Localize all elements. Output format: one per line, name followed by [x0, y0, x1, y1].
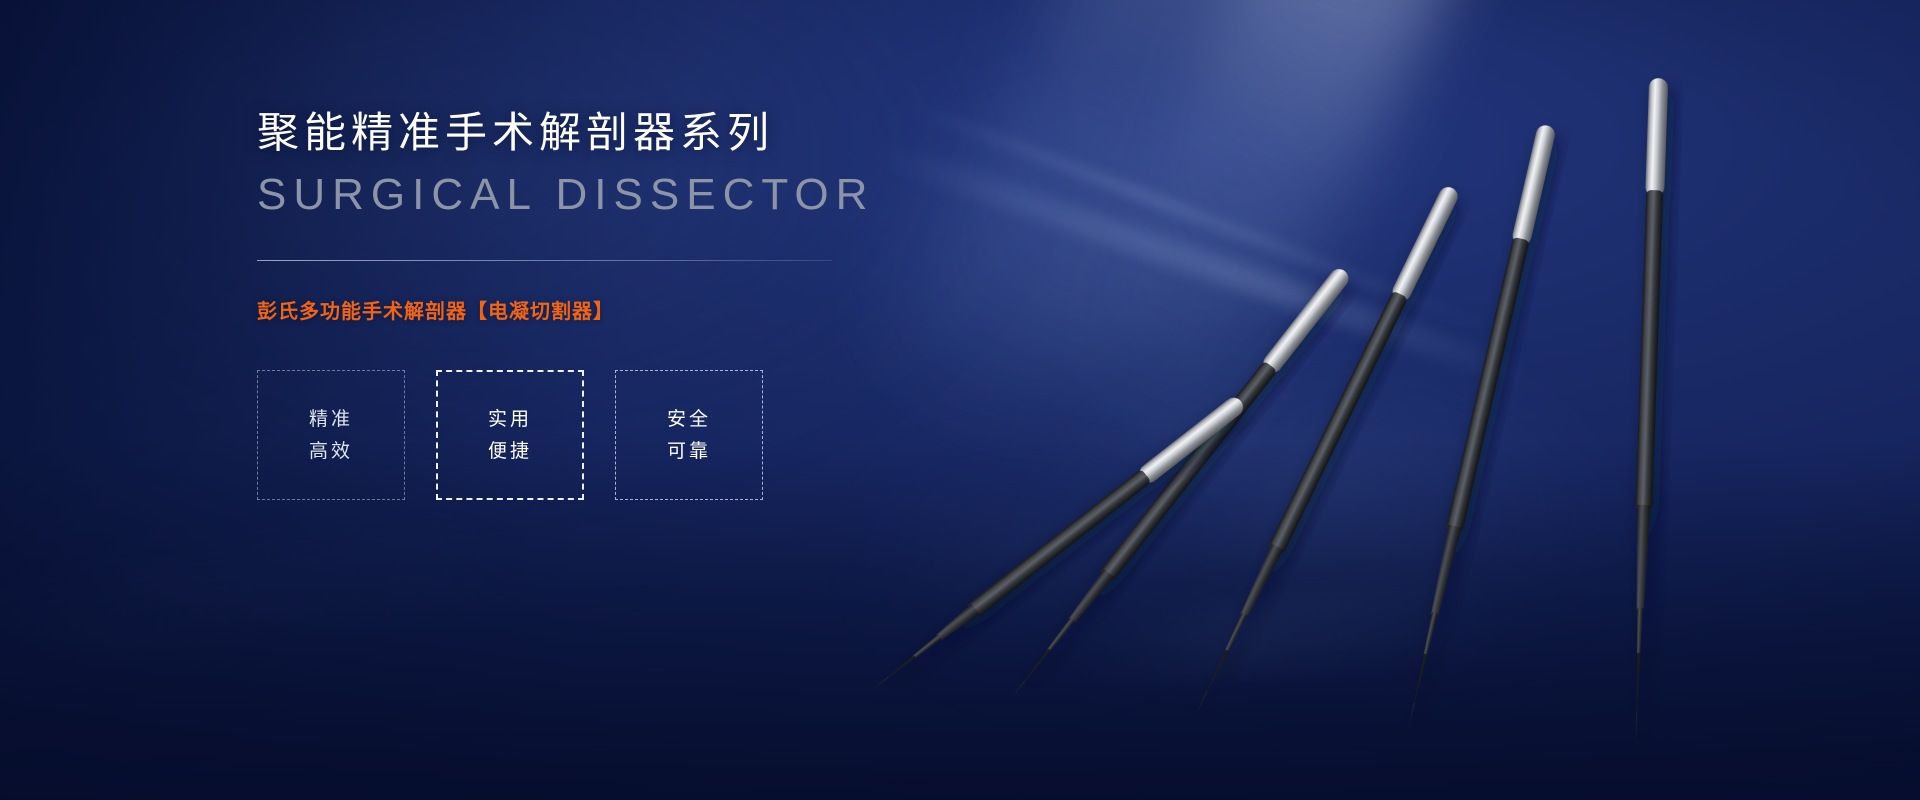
page-title: 聚能精准手术解剖器系列: [257, 106, 1017, 160]
feature-box-group: 精准 高效 实用 便捷 安全 可靠: [257, 370, 1017, 500]
page-subtitle-english: SURGICAL DISSECTOR: [257, 168, 1017, 223]
feature-box-2-line2: 便捷: [488, 442, 532, 461]
feature-box-3-line1: 安全: [667, 410, 711, 429]
product-name-label: 彭氏多功能手术解剖器【电凝切割器】: [257, 295, 1017, 324]
feature-box-1-line2: 高效: [309, 442, 353, 461]
title-divider: [257, 260, 832, 261]
feature-box-2-line1: 实用: [488, 410, 532, 429]
feature-box-1-line1: 精准: [309, 410, 353, 429]
product-banner: 聚能精准手术解剖器系列 SURGICAL DISSECTOR 彭氏多功能手术解剖…: [0, 0, 1920, 800]
feature-box-3[interactable]: 安全 可靠: [615, 370, 763, 500]
feature-box-3-line2: 可靠: [667, 442, 711, 461]
banner-text-block: 聚能精准手术解剖器系列 SURGICAL DISSECTOR 彭氏多功能手术解剖…: [257, 106, 1017, 500]
feature-box-1[interactable]: 精准 高效: [257, 370, 405, 500]
feature-box-2[interactable]: 实用 便捷: [436, 370, 584, 500]
